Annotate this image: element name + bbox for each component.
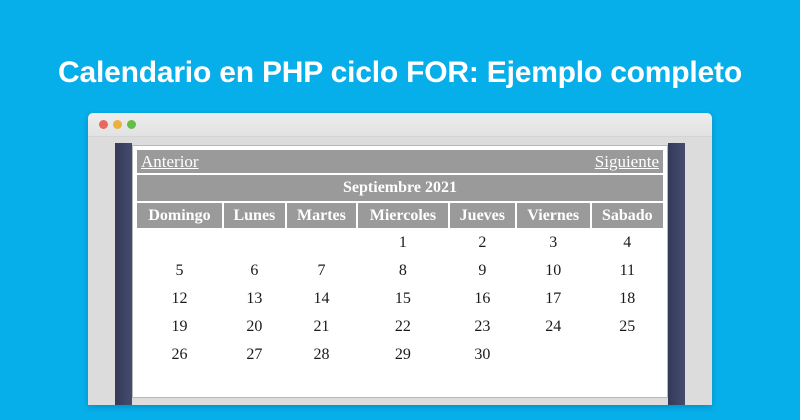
date-cell[interactable]: 30 (450, 342, 515, 368)
date-cell[interactable]: 19 (137, 314, 222, 340)
dayname-martes: Martes (287, 203, 356, 228)
dayname-viernes: Viernes (517, 203, 590, 228)
date-cell[interactable]: 1 (358, 230, 448, 256)
page-content: Anterior Siguiente Septiembre 2021 Domin… (132, 145, 668, 398)
calendar-week-row: 5 6 7 8 9 10 11 (137, 258, 663, 284)
date-cell[interactable]: 13 (224, 286, 285, 312)
calendar-dayname-row: Domingo Lunes Martes Miercoles Jueves Vi… (137, 203, 663, 228)
dayname-lunes: Lunes (224, 203, 285, 228)
date-cell[interactable]: 27 (224, 342, 285, 368)
date-cell[interactable] (517, 342, 590, 368)
previous-month-link[interactable]: Anterior (141, 152, 199, 172)
date-cell[interactable]: 10 (517, 258, 590, 284)
calendar-nav-row: Anterior Siguiente (137, 150, 663, 173)
date-cell[interactable]: 24 (517, 314, 590, 340)
date-cell[interactable]: 3 (517, 230, 590, 256)
calendar-month-row: Septiembre 2021 (137, 175, 663, 201)
date-cell[interactable]: 5 (137, 258, 222, 284)
minimize-button[interactable] (113, 120, 122, 129)
browser-window: Anterior Siguiente Septiembre 2021 Domin… (88, 113, 712, 405)
calendar-week-row: 12 13 14 15 16 17 18 (137, 286, 663, 312)
date-cell[interactable] (137, 230, 222, 256)
maximize-button[interactable] (127, 120, 136, 129)
page-title: Calendario en PHP ciclo FOR: Ejemplo com… (0, 56, 800, 90)
date-cell[interactable]: 9 (450, 258, 515, 284)
calendar-nav-cell: Anterior Siguiente (137, 150, 663, 173)
date-cell[interactable]: 18 (592, 286, 663, 312)
date-cell[interactable]: 6 (224, 258, 285, 284)
dayname-sabado: Sabado (592, 203, 663, 228)
calendar-week-row: 19 20 21 22 23 24 25 (137, 314, 663, 340)
dayname-miercoles: Miercoles (358, 203, 448, 228)
date-cell[interactable]: 15 (358, 286, 448, 312)
calendar-month-title: Septiembre 2021 (137, 175, 663, 201)
right-sidebar-strip (668, 143, 685, 405)
date-cell[interactable]: 8 (358, 258, 448, 284)
left-sidebar-strip (115, 143, 132, 405)
calendar-table: Anterior Siguiente Septiembre 2021 Domin… (135, 148, 665, 370)
date-cell[interactable]: 22 (358, 314, 448, 340)
browser-title-bar (88, 113, 712, 137)
date-cell[interactable] (224, 230, 285, 256)
date-cell[interactable]: 29 (358, 342, 448, 368)
date-cell[interactable]: 26 (137, 342, 222, 368)
next-month-link[interactable]: Siguiente (595, 152, 659, 172)
date-cell[interactable]: 7 (287, 258, 356, 284)
date-cell[interactable]: 17 (517, 286, 590, 312)
window-controls (99, 120, 136, 129)
page-root: Calendario en PHP ciclo FOR: Ejemplo com… (0, 0, 800, 420)
date-cell[interactable]: 14 (287, 286, 356, 312)
date-cell[interactable] (592, 342, 663, 368)
dayname-domingo: Domingo (137, 203, 222, 228)
calendar-week-row: 26 27 28 29 30 (137, 342, 663, 368)
date-cell[interactable]: 20 (224, 314, 285, 340)
date-cell[interactable] (287, 230, 356, 256)
date-cell[interactable]: 21 (287, 314, 356, 340)
date-cell[interactable]: 4 (592, 230, 663, 256)
date-cell[interactable]: 16 (450, 286, 515, 312)
dayname-jueves: Jueves (450, 203, 515, 228)
date-cell[interactable]: 12 (137, 286, 222, 312)
date-cell[interactable]: 28 (287, 342, 356, 368)
date-cell[interactable]: 25 (592, 314, 663, 340)
calendar-week-row: 1 2 3 4 (137, 230, 663, 256)
date-cell[interactable]: 2 (450, 230, 515, 256)
browser-viewport: Anterior Siguiente Septiembre 2021 Domin… (88, 137, 712, 405)
date-cell[interactable]: 11 (592, 258, 663, 284)
close-button[interactable] (99, 120, 108, 129)
date-cell[interactable]: 23 (450, 314, 515, 340)
